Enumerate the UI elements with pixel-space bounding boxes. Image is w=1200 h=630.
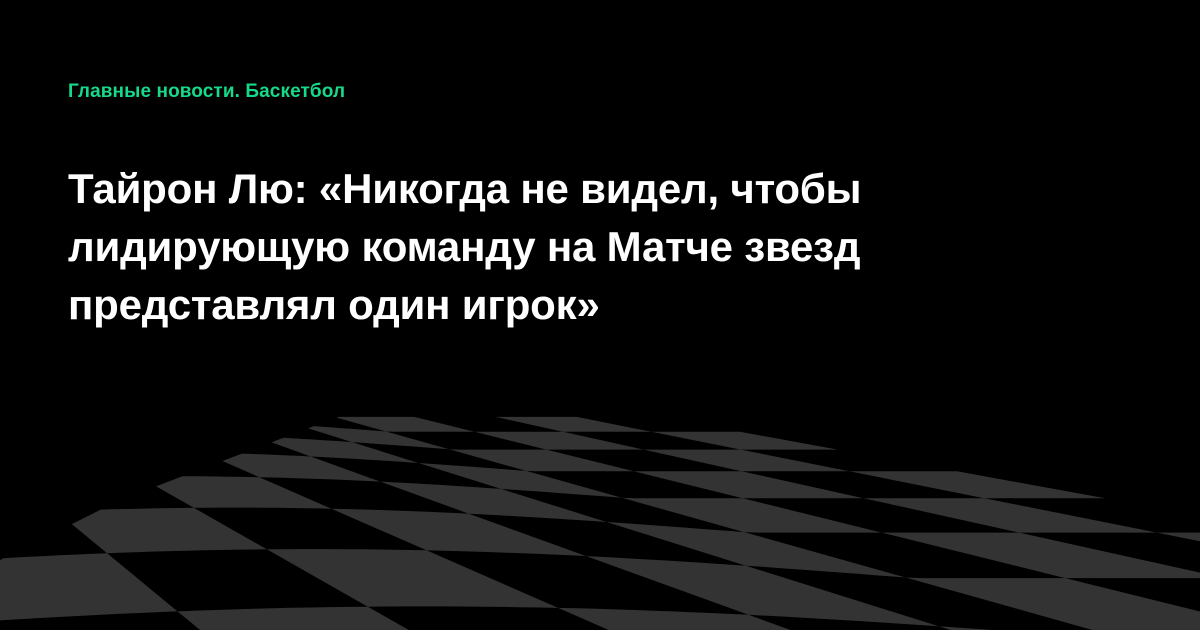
card-content: Главные новости. Баскетбол Тайрон Лю: «Н… bbox=[0, 0, 1200, 630]
headline-line-1: Тайрон Лю: «Никогда не видел, чтобы bbox=[68, 160, 1078, 218]
headline-line-2: лидирующую команду на Матче звезд bbox=[68, 218, 1078, 276]
kicker-label: Главные новости. Баскетбол bbox=[68, 81, 345, 104]
page-title: Тайрон Лю: «Никогда не видел, чтобы лиди… bbox=[68, 160, 1078, 334]
headline-line-3: представлял один игрок» bbox=[68, 276, 1078, 334]
social-share-card: Главные новости. Баскетбол Тайрон Лю: «Н… bbox=[0, 0, 1200, 630]
